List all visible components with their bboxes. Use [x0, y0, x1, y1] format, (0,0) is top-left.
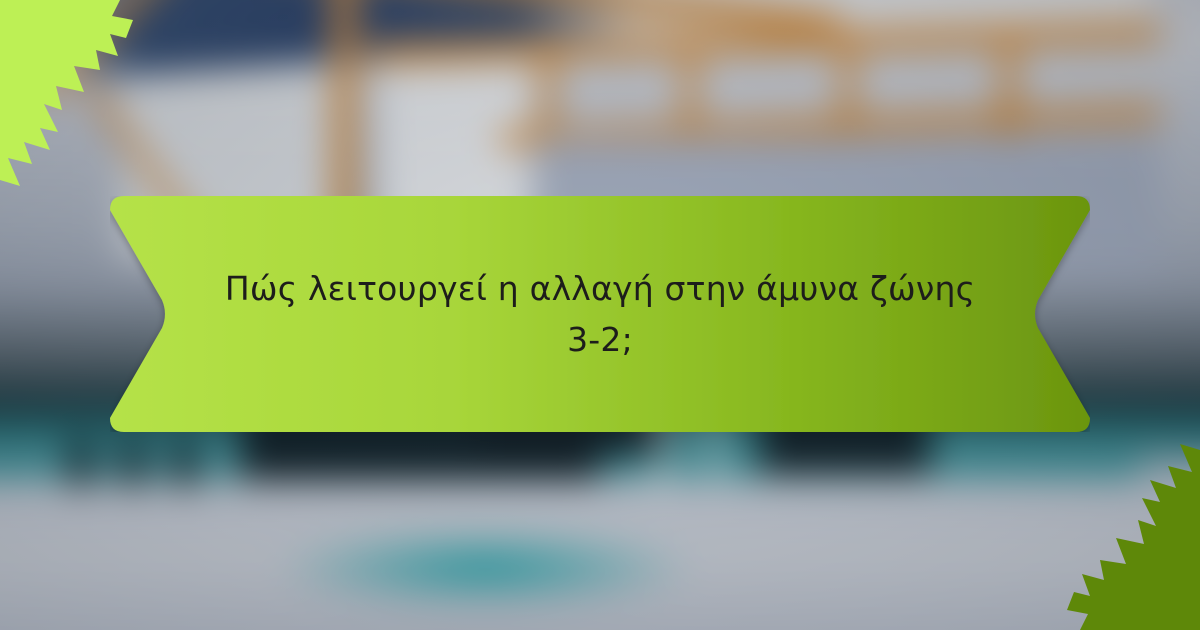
banner-title-line-2: 3-2; — [190, 314, 1010, 365]
bottom-right-jagged-decoration-icon — [1030, 410, 1200, 630]
title-banner: Πώς λειτουργεί η αλλαγή στην άμυνα ζώνης… — [110, 196, 1090, 432]
top-left-jagged-decoration-icon — [0, 0, 170, 220]
banner-text-block: Πώς λειτουργεί η αλλαγή στην άμυνα ζώνης… — [110, 196, 1090, 432]
share-card: Πώς λειτουργεί η αλλαγή στην άμυνα ζώνης… — [0, 0, 1200, 630]
banner-title-line-1: Πώς λειτουργεί η αλλαγή στην άμυνα ζώνης — [190, 263, 1010, 314]
